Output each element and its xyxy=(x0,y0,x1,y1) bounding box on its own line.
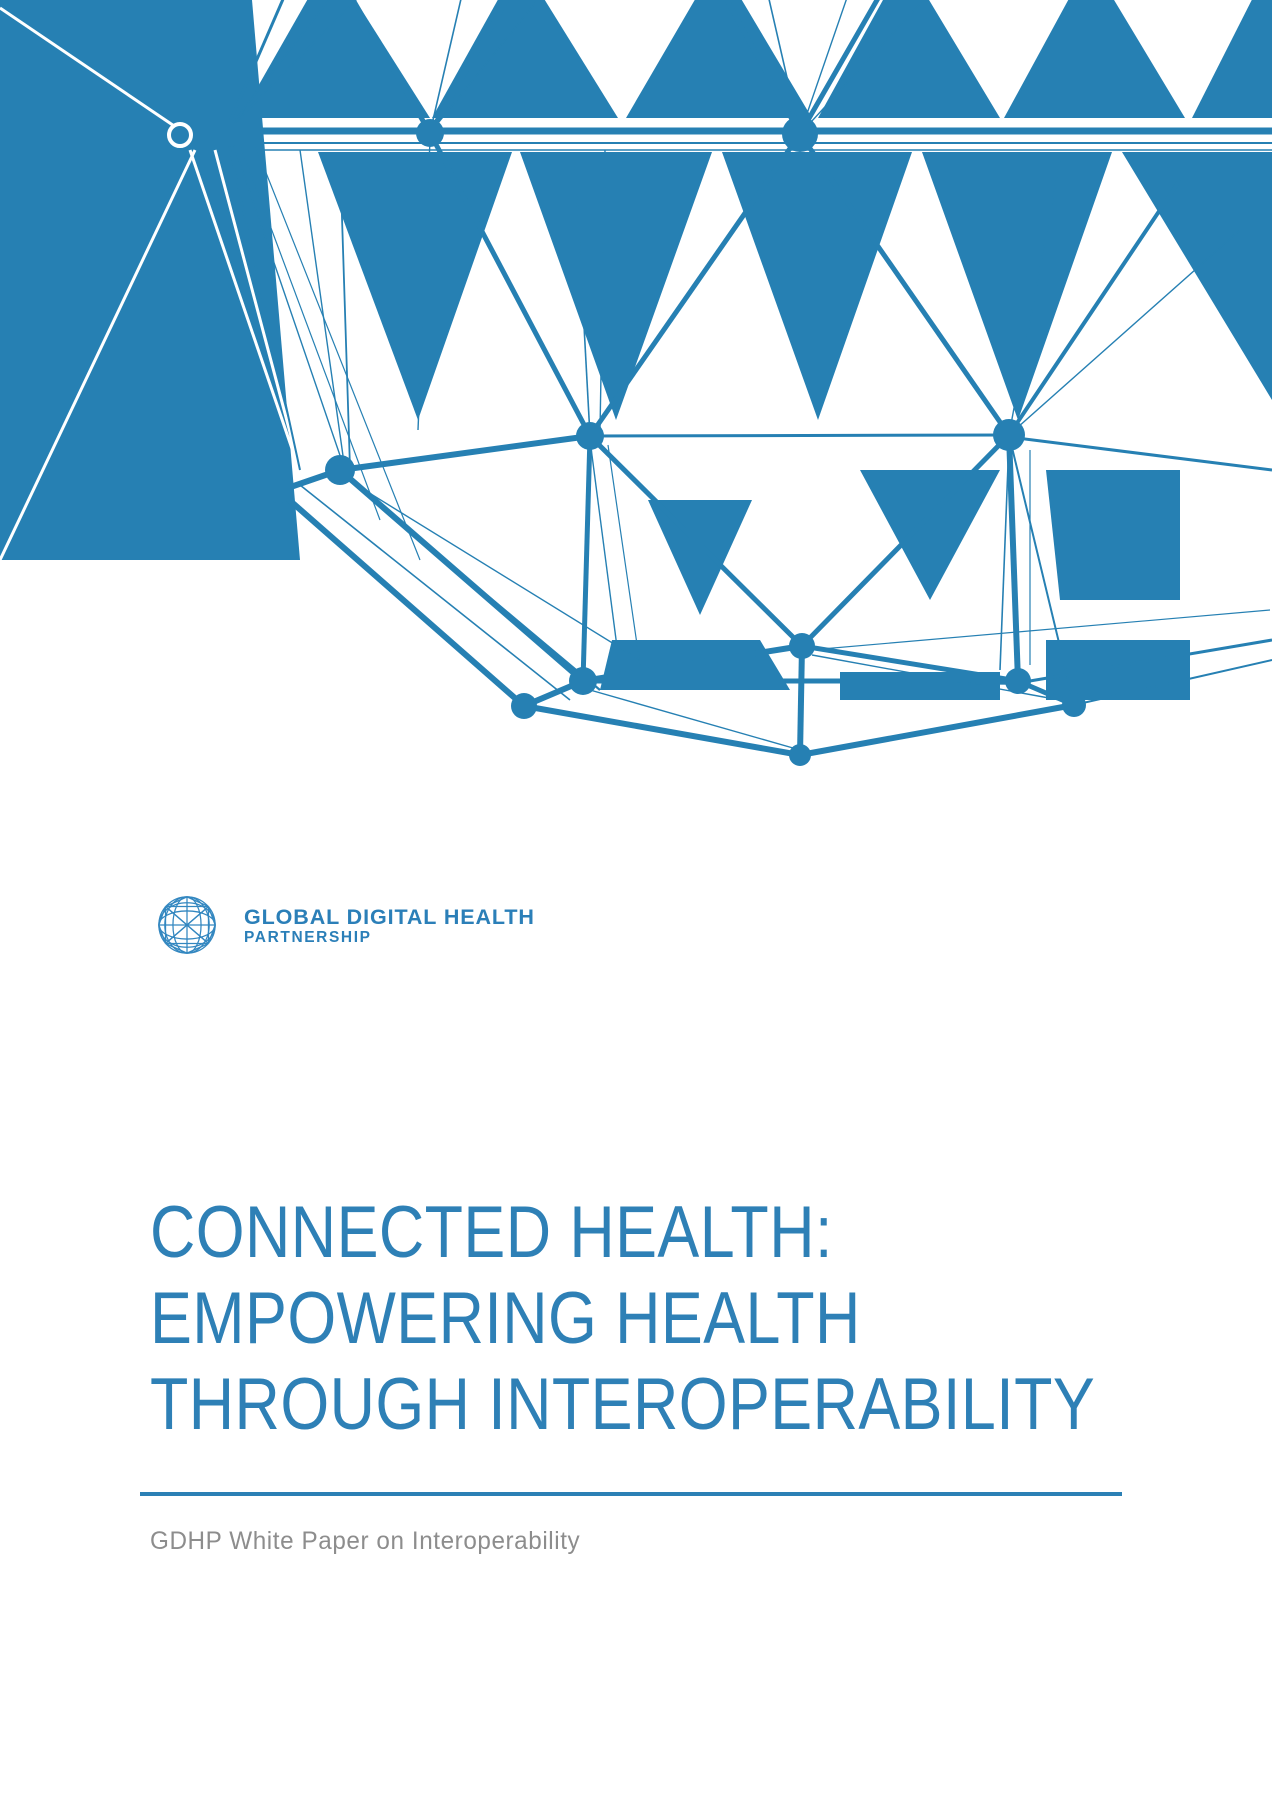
corner-blue-field xyxy=(0,0,240,560)
gdhp-wordmark: GLOBAL DIGITAL HEALTH PARTNERSHIP xyxy=(244,903,535,948)
sphere-equator-lines xyxy=(190,131,1272,150)
logo-secondary-text: PARTNERSHIP xyxy=(244,929,535,948)
title-line-2: EMPOWERING HEALTH xyxy=(150,1276,1001,1362)
node xyxy=(782,116,818,152)
title-divider xyxy=(140,1492,1122,1496)
node xyxy=(267,479,291,503)
title-line-3: THROUGH INTEROPERABILITY xyxy=(150,1362,1001,1448)
node xyxy=(1062,693,1086,717)
page-title: CONNECTED HEALTH: EMPOWERING HEALTH THRO… xyxy=(150,1190,1140,1448)
node xyxy=(993,419,1025,451)
node xyxy=(511,693,537,719)
cover-artwork xyxy=(0,0,1272,800)
node xyxy=(789,633,815,659)
node xyxy=(211,119,239,147)
gdhp-geodesic-sphere-logo-icon xyxy=(150,888,224,962)
gdhp-logo-lockup: GLOBAL DIGITAL HEALTH PARTNERSHIP xyxy=(150,888,535,962)
sphere-upper-facets xyxy=(240,0,1272,420)
title-line-1: CONNECTED HEALTH: xyxy=(150,1190,1001,1276)
node xyxy=(789,744,811,766)
geodesic-sphere-graphic xyxy=(0,0,1272,800)
subtitle: GDHP White Paper on Interoperability xyxy=(150,1527,580,1556)
logo-primary-text: GLOBAL DIGITAL HEALTH xyxy=(244,905,535,929)
node xyxy=(416,119,444,147)
node-outline xyxy=(169,124,191,146)
node xyxy=(569,667,597,695)
node xyxy=(1005,668,1031,694)
node xyxy=(325,455,355,485)
node xyxy=(576,422,604,450)
